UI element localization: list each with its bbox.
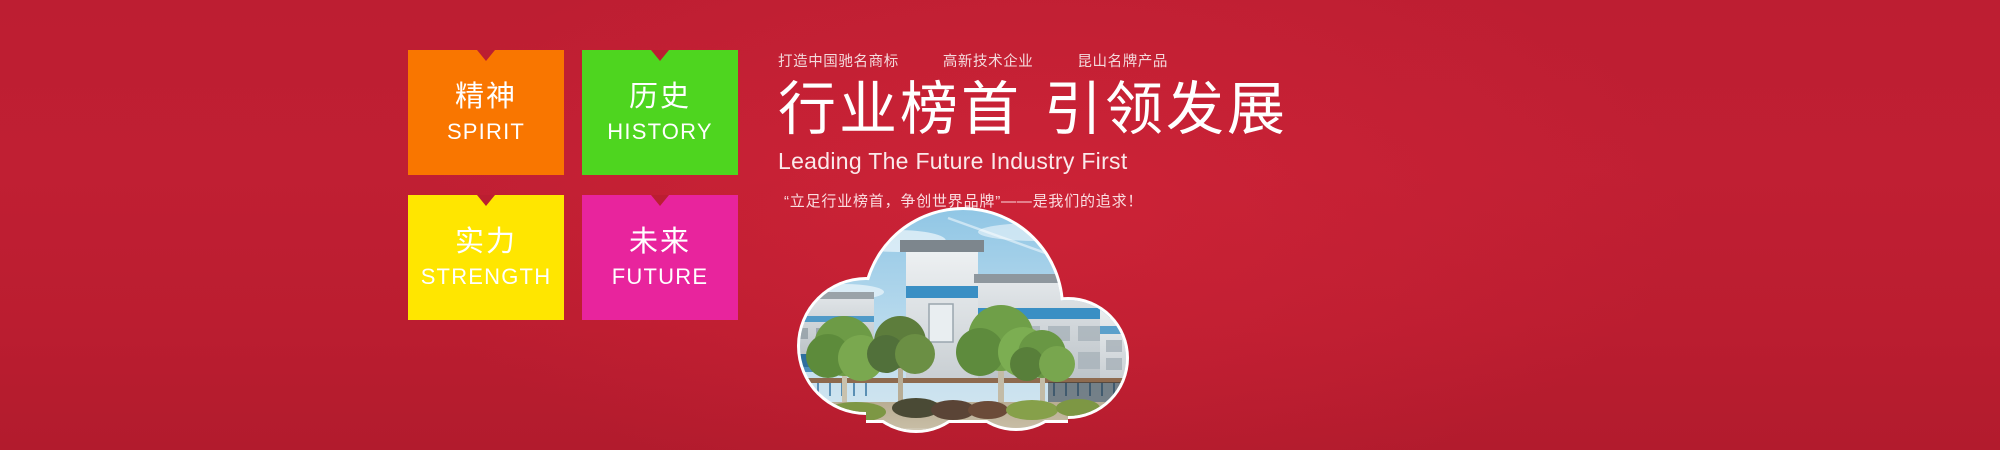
subtitle-english: Leading The Future Industry First — [778, 148, 1418, 175]
tile-future[interactable]: 未来 FUTURE — [582, 195, 738, 320]
notch-icon — [651, 195, 669, 206]
tile-future-en: FUTURE — [612, 266, 708, 288]
headline-part-left: 行业榜首 — [778, 77, 1022, 142]
value-tile-grid: 精神 SPIRIT 历史 HISTORY 实力 STRENGTH 未来 FUTU… — [408, 50, 738, 320]
credential-list: 打造中国驰名商标 高新技术企业 昆山名牌产品 — [778, 50, 1418, 72]
tile-strength-en: STRENGTH — [421, 266, 552, 288]
headline-copy-block: 打造中国驰名商标 高新技术企业 昆山名牌产品 行业榜首引领发展 Leading … — [778, 50, 1418, 211]
promo-banner: 精神 SPIRIT 历史 HISTORY 实力 STRENGTH 未来 FUTU… — [0, 0, 2000, 450]
tile-spirit-en: SPIRIT — [447, 121, 525, 143]
credential-item-trademark: 打造中国驰名商标 — [778, 50, 899, 71]
tile-future-cn: 未来 — [629, 228, 691, 257]
page-title: 行业榜首引领发展 — [778, 79, 1418, 142]
notch-icon — [477, 195, 495, 206]
tile-history[interactable]: 历史 HISTORY — [582, 50, 738, 175]
credential-item-hightech: 高新技术企业 — [943, 50, 1034, 71]
tile-strength[interactable]: 实力 STRENGTH — [408, 195, 564, 320]
tile-spirit-cn: 精神 — [455, 83, 517, 112]
tile-history-en: HISTORY — [607, 121, 712, 143]
factory-buildings-cloud-photo — [748, 196, 1178, 450]
notch-icon — [477, 50, 495, 61]
headline-part-right: 引领发展 — [1044, 77, 1288, 142]
tile-strength-cn: 实力 — [455, 228, 517, 257]
notch-icon — [651, 50, 669, 61]
tile-history-cn: 历史 — [629, 83, 691, 112]
credential-item-brand: 昆山名牌产品 — [1077, 50, 1168, 71]
tile-spirit[interactable]: 精神 SPIRIT — [408, 50, 564, 175]
